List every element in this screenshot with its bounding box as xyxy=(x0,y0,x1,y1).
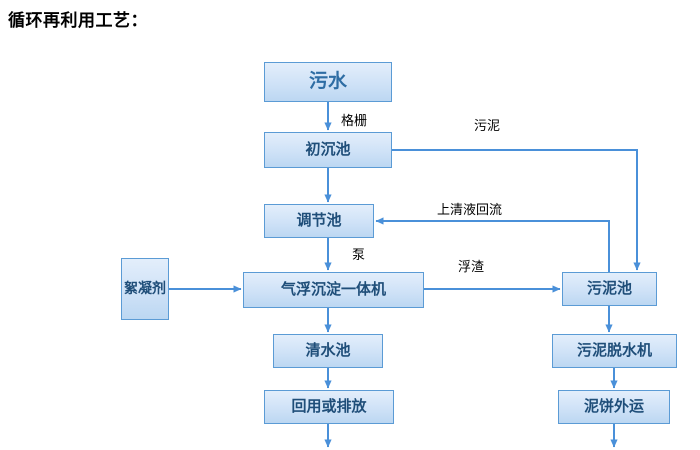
edge-label-pump: 泵 xyxy=(352,244,365,263)
edge-label-scum: 浮渣 xyxy=(458,256,484,275)
node-flocculant[interactable]: 絮凝剂 xyxy=(121,258,169,320)
node-sludge-tank-label: 污泥池 xyxy=(587,280,632,297)
connector-supernatant-return xyxy=(376,221,609,272)
node-sludge-dewatering-machine-label: 污泥脱水机 xyxy=(577,342,652,359)
node-equalization-tank[interactable]: 调节池 xyxy=(264,204,374,238)
node-cake-transport-label: 泥饼外运 xyxy=(584,398,644,415)
edge-label-supernatant-return: 上清液回流 xyxy=(437,199,502,218)
node-primary-tank-label: 初沉池 xyxy=(305,141,350,158)
node-flocculant-label: 絮凝剂 xyxy=(124,280,166,298)
node-equalization-tank-label: 调节池 xyxy=(296,212,341,229)
node-cake-transport[interactable]: 泥饼外运 xyxy=(558,390,670,424)
node-sludge-dewatering-machine[interactable]: 污泥脱水机 xyxy=(552,334,677,368)
node-reuse-or-discharge-label: 回用或排放 xyxy=(291,398,366,415)
node-daf-sedimentation-unit[interactable]: 气浮沉淀一体机 xyxy=(243,272,424,308)
edge-label-grating: 格栅 xyxy=(341,110,367,129)
node-clearwater-tank-label: 清水池 xyxy=(305,342,350,359)
node-wastewater-label: 污水 xyxy=(309,71,347,93)
node-reuse-or-discharge[interactable]: 回用或排放 xyxy=(264,390,394,424)
node-sludge-tank[interactable]: 污泥池 xyxy=(562,272,657,306)
node-clearwater-tank[interactable]: 清水池 xyxy=(273,334,383,368)
flow-diagram-canvas: 循环再利用工艺： xyxy=(0,0,700,450)
node-primary-tank[interactable]: 初沉池 xyxy=(264,132,392,168)
node-wastewater[interactable]: 污水 xyxy=(264,62,392,102)
node-daf-sedimentation-unit-label: 气浮沉淀一体机 xyxy=(281,281,386,298)
edge-label-sludge: 污泥 xyxy=(474,115,500,134)
connector-primary-sludge-to-sludge-tank xyxy=(392,150,637,270)
